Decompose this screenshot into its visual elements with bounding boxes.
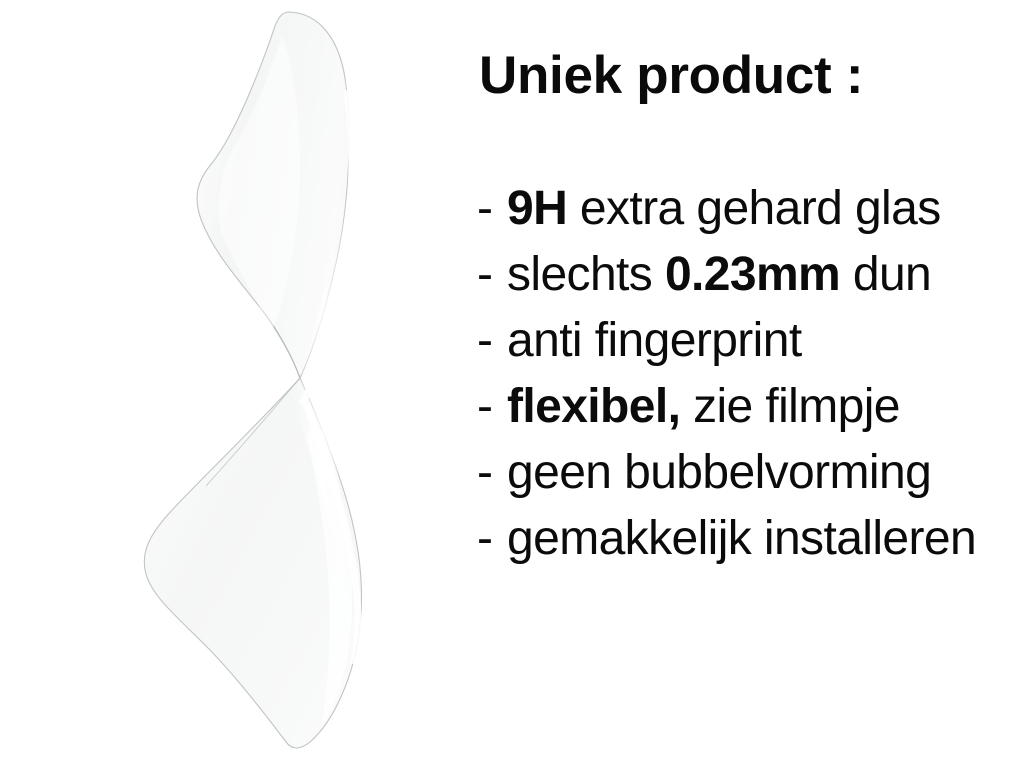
list-item: -anti fingerprint	[470, 308, 1024, 374]
list-item: -gemakkelijk installeren	[470, 506, 1024, 572]
bullet-dash: -	[477, 374, 507, 440]
feature-list: -9H extra gehard glas -slechts 0.23mm du…	[470, 176, 1024, 572]
feature-highlight: 9H	[507, 182, 567, 235]
feature-text: zie filmpje	[680, 380, 900, 433]
feature-text: anti fingerprint	[507, 314, 802, 367]
list-item: -slechts 0.23mm dun	[470, 242, 1024, 308]
text-column: Uniek product : -9H extra gehard glas -s…	[470, 0, 1024, 768]
feature-highlight: 0.23mm	[665, 248, 840, 301]
feature-text: extra gehard glas	[567, 182, 940, 235]
bullet-dash: -	[477, 242, 507, 308]
bullet-dash: -	[477, 176, 507, 242]
list-item: -flexibel, zie filmpje	[470, 374, 1024, 440]
feature-highlight: flexibel,	[507, 380, 680, 433]
list-item: -geen bubbelvorming	[470, 440, 1024, 506]
feature-text: slechts	[507, 248, 665, 301]
feature-text: gemakkelijk installeren	[507, 512, 976, 565]
feature-text: dun	[840, 248, 931, 301]
feature-text: geen bubbelvorming	[507, 446, 931, 499]
page-title: Uniek product :	[479, 48, 863, 104]
bullet-dash: -	[477, 308, 507, 374]
bullet-dash: -	[477, 440, 507, 506]
list-item: -9H extra gehard glas	[470, 176, 1024, 242]
bullet-dash: -	[477, 506, 507, 572]
product-image	[0, 0, 470, 768]
promo-slide: Uniek product : -9H extra gehard glas -s…	[0, 0, 1024, 768]
